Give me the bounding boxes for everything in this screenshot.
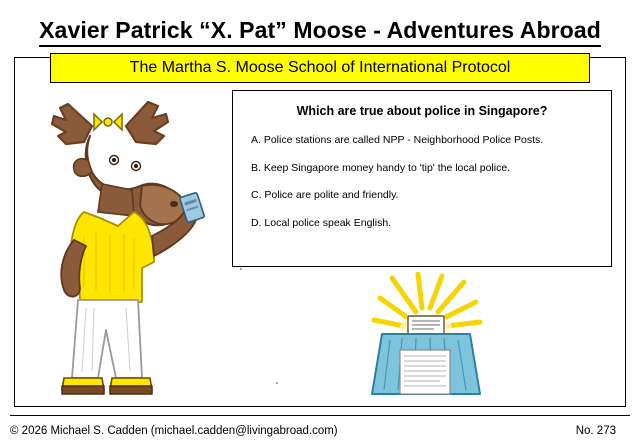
moose-illustration: [22, 86, 218, 402]
subtitle-banner: The Martha S. Moose School of Internatio…: [50, 53, 590, 83]
subtitle-text: The Martha S. Moose School of Internatio…: [130, 59, 511, 77]
slide-number: No. 273: [576, 425, 630, 437]
page-title: Xavier Patrick “X. Pat” Moose - Adventur…: [39, 18, 601, 47]
question-heading: Which are true about police in Singapore…: [251, 104, 593, 118]
question-box: Which are true about police in Singapore…: [232, 90, 612, 267]
title-bar: Xavier Patrick “X. Pat” Moose - Adventur…: [0, 18, 640, 47]
answer-option-a: A. Police stations are called NPP - Neig…: [251, 134, 593, 147]
footer: © 2026 Michael S. Cadden (michael.cadden…: [10, 420, 630, 442]
answer-option-b: B. Keep Singapore money handy to 'tip' t…: [251, 162, 593, 175]
copyright-text: © 2026 Michael S. Cadden (michael.cadden…: [10, 425, 338, 437]
answer-option-d: D. Local police speak English.: [251, 217, 593, 230]
stray-pencil-mark: [276, 382, 278, 384]
passport-illustration: [330, 272, 518, 404]
footer-divider: [10, 415, 630, 416]
answer-option-c: C. Police are polite and friendly.: [251, 189, 593, 202]
stray-pencil-mark: [240, 268, 242, 270]
